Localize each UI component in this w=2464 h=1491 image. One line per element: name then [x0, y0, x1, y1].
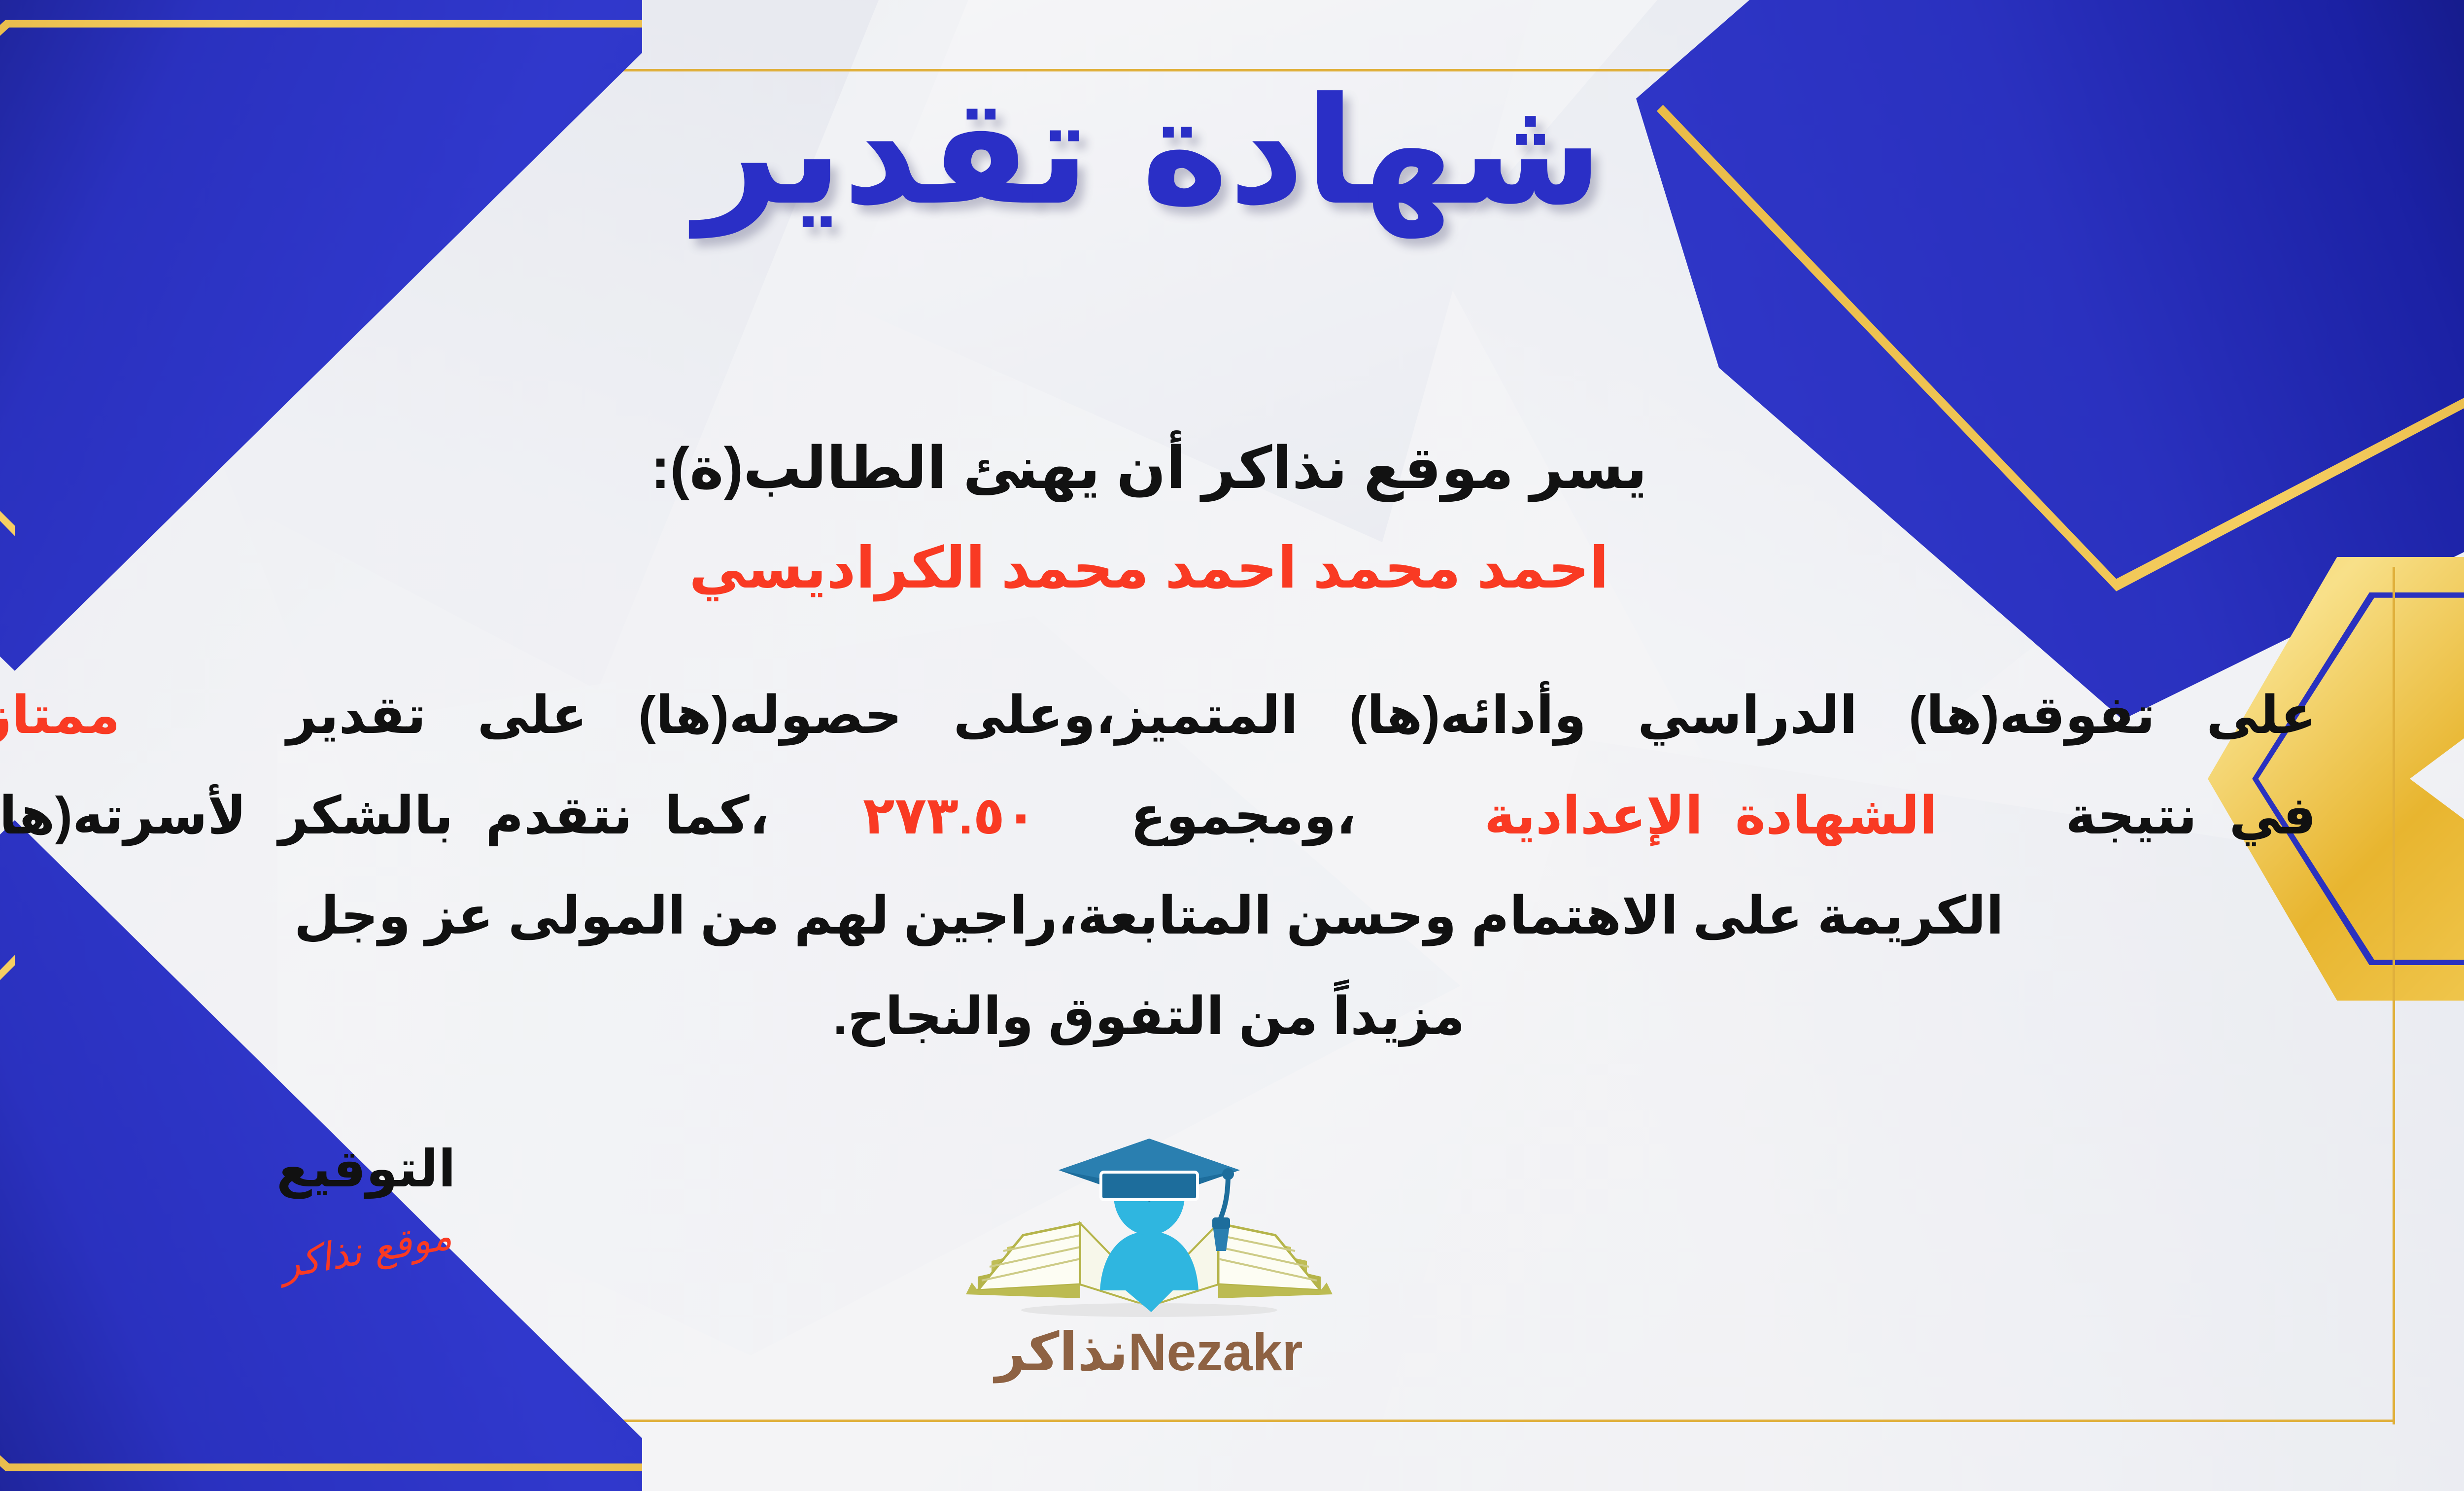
certificate-title: شهادة تقدير [0, 59, 2464, 244]
grade-value: ممتاز [0, 686, 120, 744]
certificate-content: شهادة تقدير يسر موقع نذاكر أن يهنئ الطال… [0, 0, 2464, 1491]
brand-logo: Nezakrنذاكر [932, 1129, 1366, 1383]
certificate-body: على تفوقه(ها) الدراسي وأدائه(ها) المتميز… [0, 665, 2316, 1067]
body-line-2-suffix: ،كما نتقدم بالشكر لأسرته(ها) [0, 787, 769, 845]
graduate-book-logo-icon [932, 1129, 1366, 1326]
signature-script: موقع نذاكر [277, 1214, 455, 1287]
total-score: ٢٧٣.٥٠ [863, 787, 1037, 845]
body-line-1: على تفوقه(ها) الدراسي وأدائه(ها) المتميز… [0, 665, 2316, 766]
exam-name: الشهادة الإعدادية [1484, 787, 1937, 845]
signature-block: التوقيع موقع نذاكر [208, 1139, 524, 1273]
brand-name-arabic: نذاكر [995, 1322, 1128, 1382]
brand-logo-text: Nezakrنذاكر [932, 1321, 1366, 1383]
brand-name-latin: Nezakr [1128, 1322, 1302, 1382]
body-line-3: الكريمة على الاهتمام وحسن المتابعة،راجين… [0, 866, 2316, 967]
body-line-2-prefix: في نتيجة [2065, 787, 2316, 845]
body-line-4: مزيداً من التفوق والنجاح. [0, 967, 2316, 1067]
body-line-2: في نتيجة الشهادة الإعدادية ،ومجموع ٢٧٣.٥… [0, 766, 2316, 867]
body-line-2-total-label: ،ومجموع [1130, 787, 1356, 845]
body-line-1-text: على تفوقه(ها) الدراسي وأدائه(ها) المتميز… [287, 686, 2316, 744]
certificate-canvas: شهادة تقدير يسر موقع نذاكر أن يهنئ الطال… [0, 0, 2464, 1491]
student-name: احمد محمد احمد محمد الكراديسي [0, 535, 2464, 601]
signature-label: التوقيع [208, 1139, 524, 1199]
greeting-line: يسر موقع نذاكر أن يهنئ الطالب(ة): [0, 434, 2464, 502]
